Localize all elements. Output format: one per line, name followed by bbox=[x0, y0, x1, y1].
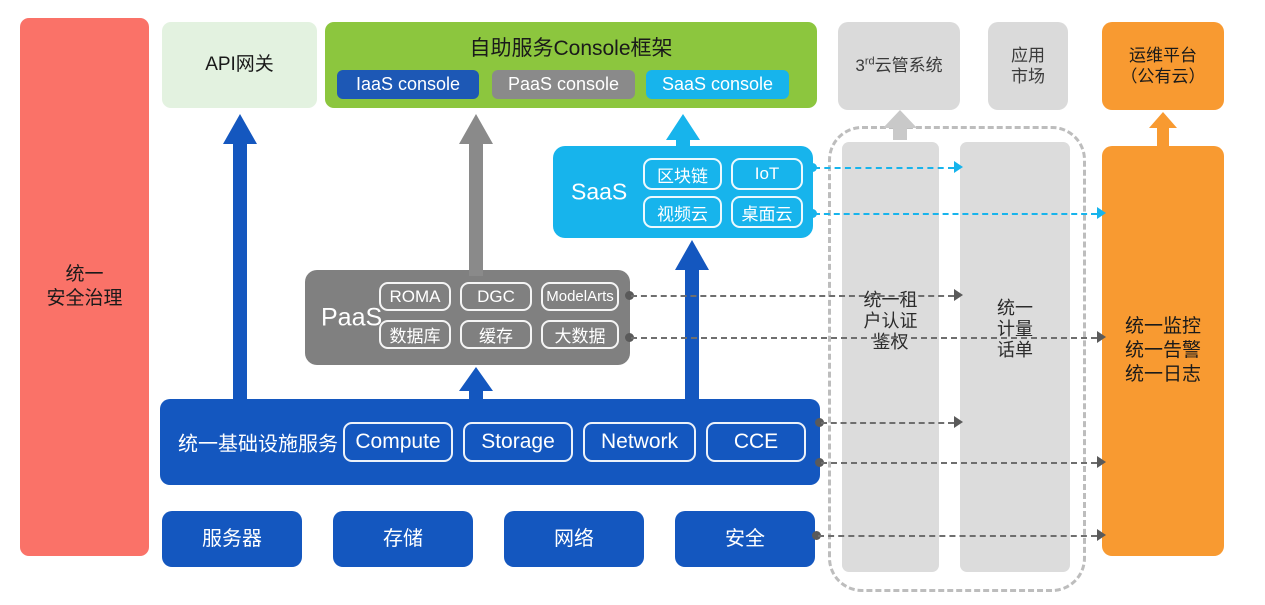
paas-console-chip[interactable]: PaaS console bbox=[492, 70, 635, 99]
saas-console-label: SaaS console bbox=[662, 73, 773, 96]
iaas-console-label: IaaS console bbox=[356, 73, 460, 96]
unified-infrastructure-label: 统一基础设施服务 bbox=[178, 428, 338, 457]
tpc-prefix: 3 bbox=[855, 56, 864, 75]
arrow-ops-panel-to-ops-top bbox=[1148, 112, 1178, 146]
tenant-auth-line-1: 统一租 bbox=[842, 290, 939, 311]
connector-saas-to-auth bbox=[814, 167, 954, 169]
hardware-server-label: 服务器 bbox=[202, 527, 262, 552]
arrow-shared-to-third-party-cloud bbox=[882, 110, 918, 140]
saas-item-video-cloud-label: 视频云 bbox=[657, 200, 708, 225]
app-market-line-2: 市场 bbox=[1011, 66, 1045, 87]
saas-item-iot-label: IoT bbox=[755, 164, 780, 184]
unified-infrastructure-bar: 统一基础设施服务 Compute Storage Network CCE bbox=[160, 399, 820, 485]
arrow-paas-to-console bbox=[458, 114, 494, 276]
ops-panel-line-2: 统一告警 bbox=[1125, 339, 1201, 363]
metering-billing-label: 统一 计量 话单 bbox=[960, 298, 1070, 362]
connector-infra-to-ops bbox=[821, 462, 1097, 464]
saas-item-desktop-cloud-label: 桌面云 bbox=[742, 200, 793, 225]
paas-item-database[interactable]: 数据库 bbox=[379, 320, 451, 349]
ops-platform-top-box: 运维平台 （公有云） bbox=[1102, 22, 1224, 110]
app-market-box: 应用 市场 bbox=[988, 22, 1068, 110]
infra-item-compute-label: Compute bbox=[355, 430, 440, 454]
api-gateway-label: API网关 bbox=[205, 53, 274, 77]
arrowhead-paas-to-ops bbox=[1097, 331, 1106, 343]
saas-item-blockchain-label: 区块链 bbox=[657, 162, 708, 187]
infra-item-cce[interactable]: CCE bbox=[706, 422, 806, 462]
ops-top-line-2: （公有云） bbox=[1121, 66, 1206, 87]
arrow-infra-to-paas bbox=[458, 367, 494, 405]
ops-panel-line-1: 统一监控 bbox=[1125, 315, 1201, 339]
paas-item-dgc[interactable]: DGC bbox=[460, 282, 532, 311]
saas-item-desktop-cloud[interactable]: 桌面云 bbox=[731, 196, 803, 228]
hardware-box-security: 安全 bbox=[675, 511, 815, 567]
paas-item-cache[interactable]: 缓存 bbox=[460, 320, 532, 349]
saas-item-video-cloud[interactable]: 视频云 bbox=[643, 196, 722, 228]
connector-paas-to-auth bbox=[631, 295, 954, 297]
arrowhead-saas-to-ops bbox=[1097, 207, 1106, 219]
paas-item-dgc-label: DGC bbox=[477, 287, 515, 307]
saas-layer-label: SaaS bbox=[571, 179, 627, 206]
ops-platform-panel: 统一监控 统一告警 统一日志 bbox=[1102, 146, 1224, 556]
hardware-network-label: 网络 bbox=[554, 527, 594, 552]
paas-item-modelarts[interactable]: ModelArts bbox=[541, 282, 619, 311]
infra-item-compute[interactable]: Compute bbox=[343, 422, 453, 462]
metering-billing-column: 统一 计量 话单 bbox=[960, 142, 1070, 572]
infra-item-storage[interactable]: Storage bbox=[463, 422, 573, 462]
infra-item-cce-label: CCE bbox=[734, 430, 778, 454]
hardware-security-label: 安全 bbox=[725, 527, 765, 552]
paas-item-database-label: 数据库 bbox=[390, 322, 441, 347]
saas-console-chip[interactable]: SaaS console bbox=[646, 70, 789, 99]
tenant-auth-column: 统一租 户认证 鉴权 bbox=[842, 142, 939, 572]
connector-hardware-to-ops bbox=[818, 535, 1097, 537]
tpc-suffix: 云管系统 bbox=[875, 56, 943, 75]
arrowhead-hardware-to-ops bbox=[1097, 529, 1106, 541]
tenant-auth-line-3: 鉴权 bbox=[842, 332, 939, 353]
paas-console-label: PaaS console bbox=[508, 73, 619, 96]
hardware-box-server: 服务器 bbox=[162, 511, 302, 567]
paas-item-roma-label: ROMA bbox=[390, 287, 441, 307]
metering-line-1: 统一 bbox=[960, 298, 1070, 319]
security-governance-panel: 统一 安全治理 bbox=[20, 18, 149, 556]
paas-item-roma[interactable]: ROMA bbox=[379, 282, 451, 311]
hardware-box-network: 网络 bbox=[504, 511, 644, 567]
infra-item-storage-label: Storage bbox=[481, 430, 555, 454]
security-line-2: 安全治理 bbox=[46, 287, 122, 311]
paas-item-cache-label: 缓存 bbox=[479, 322, 513, 347]
arrow-infra-to-api-gateway bbox=[222, 114, 258, 402]
iaas-console-chip[interactable]: IaaS console bbox=[337, 70, 479, 99]
paas-item-modelarts-label: ModelArts bbox=[546, 288, 614, 305]
saas-item-blockchain[interactable]: 区块链 bbox=[643, 158, 722, 190]
arrowhead-infra-to-ops bbox=[1097, 456, 1106, 468]
arrow-saas-to-console bbox=[665, 114, 701, 154]
paas-item-bigdata[interactable]: 大数据 bbox=[541, 320, 619, 349]
infra-item-network[interactable]: Network bbox=[583, 422, 696, 462]
paas-item-bigdata-label: 大数据 bbox=[555, 322, 606, 347]
app-market-line-1: 应用 bbox=[1011, 45, 1045, 66]
third-party-cloud-label: 3rd云管系统 bbox=[855, 55, 942, 76]
tenant-auth-line-2: 户认证 bbox=[842, 311, 939, 332]
paas-layer-box: PaaS ROMA DGC ModelArts 数据库 缓存 大数据 bbox=[305, 270, 630, 365]
arrowhead-paas-to-auth bbox=[954, 289, 963, 301]
saas-layer-box: SaaS 区块链 IoT 视频云 桌面云 bbox=[553, 146, 813, 238]
ops-top-line-1: 运维平台 bbox=[1121, 45, 1206, 66]
connector-infra-to-auth bbox=[821, 422, 954, 424]
security-line-1: 统一 bbox=[46, 263, 122, 287]
ops-panel-line-3: 统一日志 bbox=[1125, 363, 1201, 387]
console-framework-box: 自助服务Console框架 IaaS console PaaS console … bbox=[325, 22, 817, 108]
arrowhead-saas-to-auth bbox=[954, 161, 963, 173]
infra-item-network-label: Network bbox=[601, 430, 678, 454]
third-party-cloud-box: 3rd云管系统 bbox=[838, 22, 960, 110]
saas-item-iot[interactable]: IoT bbox=[731, 158, 803, 190]
connector-saas-to-ops bbox=[814, 213, 1097, 215]
connector-paas-to-ops bbox=[631, 337, 1097, 339]
hardware-box-storage: 存储 bbox=[333, 511, 473, 567]
hardware-storage-label: 存储 bbox=[383, 527, 423, 552]
architecture-diagram: 统一 安全治理 API网关 自助服务Console框架 IaaS console… bbox=[0, 0, 1265, 605]
tpc-sup: rd bbox=[865, 56, 875, 68]
metering-line-3: 话单 bbox=[960, 340, 1070, 361]
arrowhead-infra-to-auth bbox=[954, 416, 963, 428]
arrow-infra-to-saas bbox=[674, 240, 710, 404]
console-framework-title: 自助服务Console框架 bbox=[325, 36, 817, 62]
paas-layer-label: PaaS bbox=[321, 303, 382, 332]
api-gateway-box: API网关 bbox=[162, 22, 317, 108]
tenant-auth-label: 统一租 户认证 鉴权 bbox=[842, 290, 939, 354]
